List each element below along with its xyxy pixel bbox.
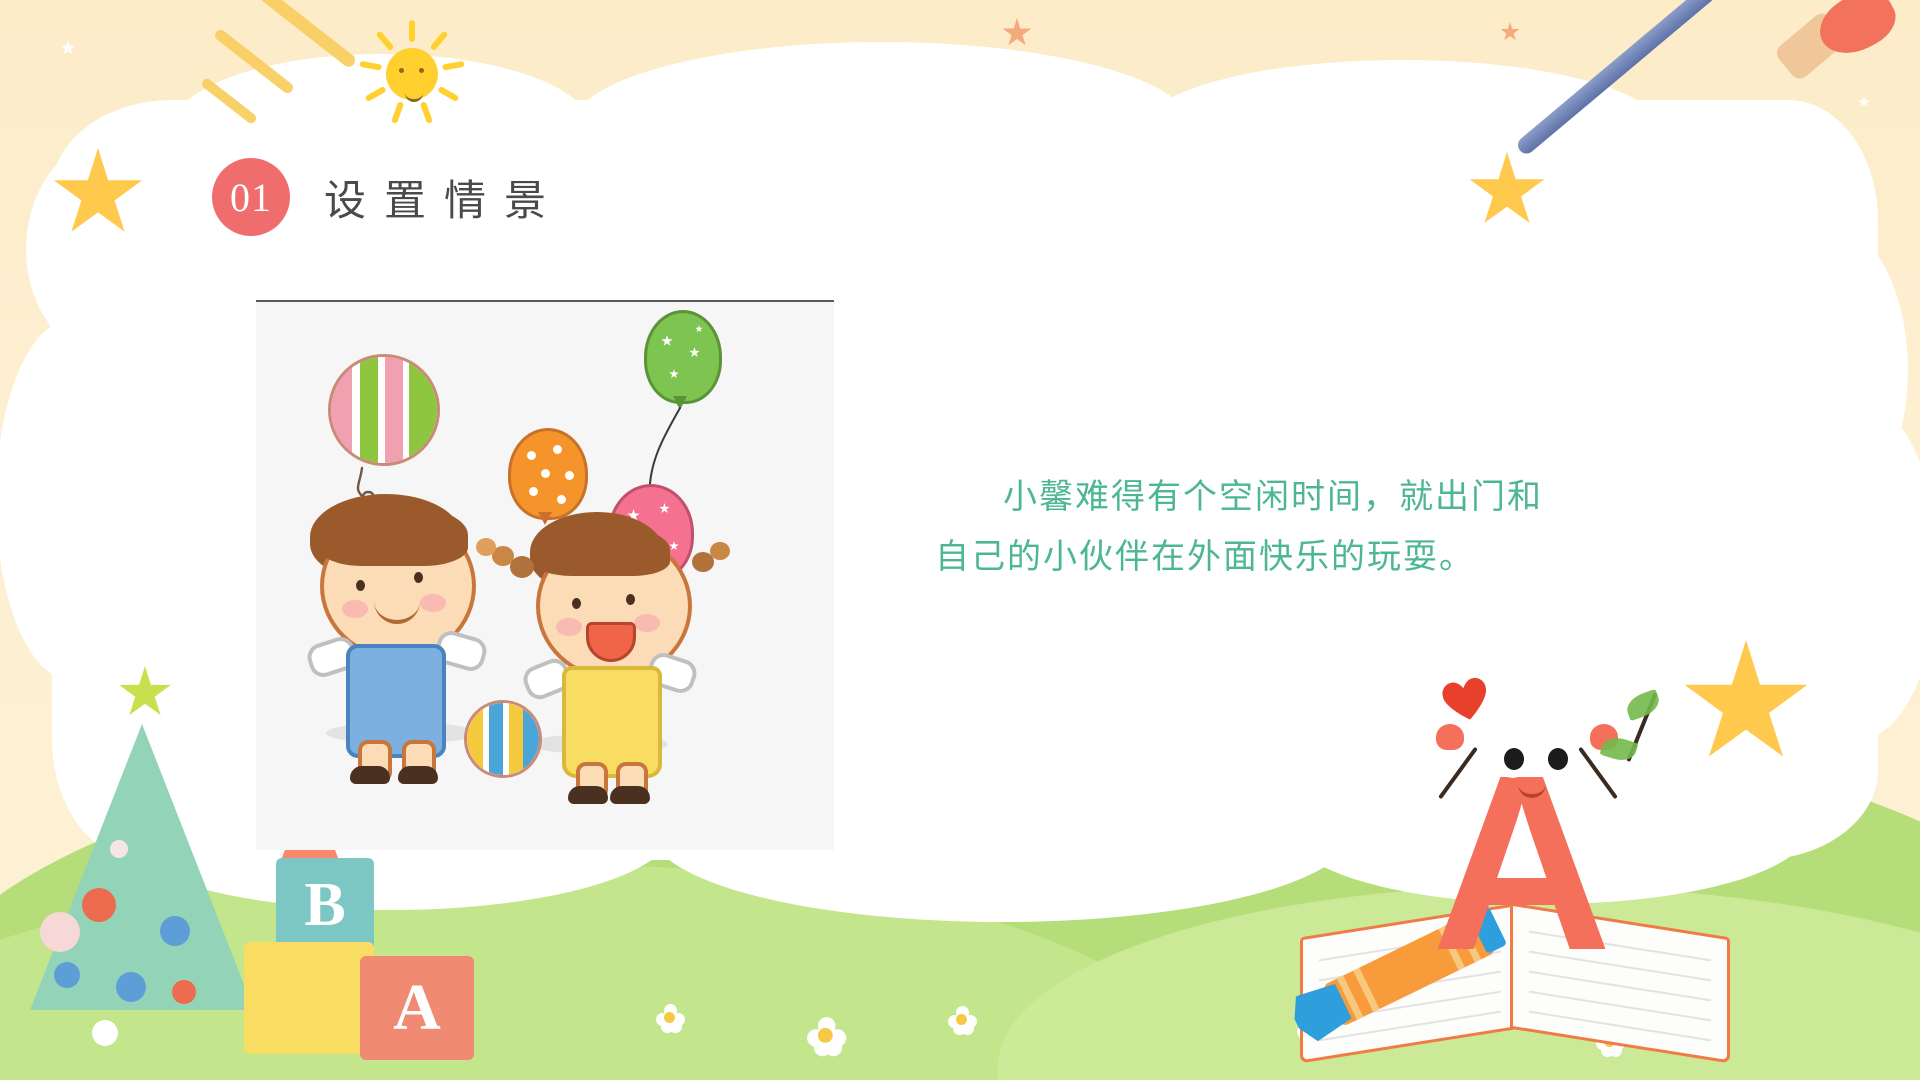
balloon-green xyxy=(644,310,722,404)
flower-icon-2 xyxy=(807,1017,845,1055)
panel-bump-top-mid xyxy=(572,42,1192,212)
panel-bump-left xyxy=(0,320,146,680)
flower-icon-3 xyxy=(948,1006,976,1034)
alphabet-block-a: A xyxy=(360,956,474,1060)
section-header: 01 设置情景 xyxy=(212,158,564,236)
alphabet-block-yellow xyxy=(244,942,374,1054)
block-letter-a: A xyxy=(393,970,441,1046)
flower-icon-1 xyxy=(656,1004,684,1032)
block-letter-b: B xyxy=(304,870,345,941)
christmas-tree-icon xyxy=(30,680,260,1010)
striped-ball-top xyxy=(328,354,440,466)
letter-a-mascot: A xyxy=(1370,684,1670,984)
page-title: 设置情景 xyxy=(324,167,564,228)
body-paragraph: 小馨难得有个空闲时间，就出门和 自己的小伙伴在外面快乐的玩耍。 xyxy=(935,468,1655,587)
slide-canvas: B A xyxy=(0,0,1920,1080)
paintbrush-icon xyxy=(1510,0,1920,292)
striped-ball-bottom xyxy=(464,700,542,778)
section-number-badge: 01 xyxy=(212,158,290,236)
heart-icon xyxy=(1440,676,1491,724)
body-line-2: 自己的小伙伴在外面快乐的玩耍。 xyxy=(935,528,1655,588)
section-number-text: 01 xyxy=(230,174,272,221)
balloon-orange xyxy=(508,428,588,520)
sun-icon xyxy=(368,30,454,116)
alphabet-block-b: B xyxy=(276,858,374,952)
scene-illustration xyxy=(256,300,834,850)
body-line-1: 小馨难得有个空闲时间，就出门和 xyxy=(935,468,1655,528)
